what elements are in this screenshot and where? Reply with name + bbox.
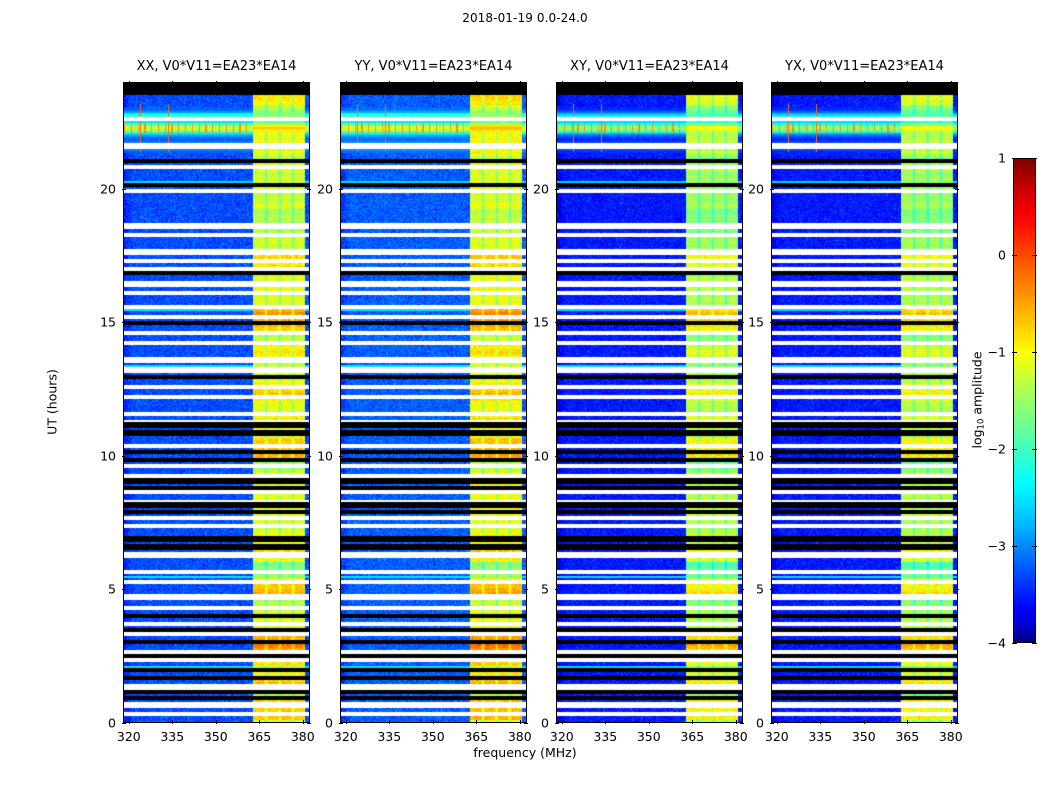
x-tick bbox=[172, 720, 173, 724]
x-tick bbox=[777, 720, 778, 724]
panel-xx: XX, V0*V11=EA23*EA1432033535036538005101… bbox=[123, 82, 310, 723]
y-tick-right bbox=[524, 189, 528, 190]
x-tick-top bbox=[259, 81, 260, 85]
y-tick-right bbox=[740, 322, 744, 323]
y-tick-right bbox=[307, 723, 311, 724]
y-tick-right bbox=[307, 589, 311, 590]
waterfall-image-xy bbox=[557, 83, 742, 722]
y-tick-label: 5 bbox=[325, 582, 333, 597]
colorbar-tick-inner bbox=[1032, 546, 1037, 547]
x-tick-label: 380 bbox=[939, 729, 963, 744]
y-tick-label: 5 bbox=[108, 582, 116, 597]
x-tick-top bbox=[820, 81, 821, 85]
y-tick bbox=[122, 322, 126, 323]
x-tick-label: 380 bbox=[508, 729, 532, 744]
y-tick-right bbox=[740, 589, 744, 590]
y-tick-label: 15 bbox=[317, 315, 333, 330]
x-tick bbox=[736, 720, 737, 724]
colorbar-tick bbox=[1012, 643, 1017, 644]
colorbar-tick bbox=[1012, 158, 1017, 159]
x-tick-label: 350 bbox=[421, 729, 445, 744]
x-tick bbox=[605, 720, 606, 724]
y-tick bbox=[122, 589, 126, 590]
y-tick-label: 20 bbox=[748, 181, 764, 196]
panel-title-yx: YX, V0*V11=EA23*EA14 bbox=[785, 59, 944, 74]
x-tick-top bbox=[346, 81, 347, 85]
y-tick-label: 5 bbox=[541, 582, 549, 597]
x-tick-label: 335 bbox=[808, 729, 832, 744]
colorbar-tick-label: 1 bbox=[998, 151, 1006, 166]
x-tick bbox=[562, 720, 563, 724]
figure-suptitle: 2018-01-19 0.0-24.0 bbox=[0, 11, 1050, 25]
y-tick bbox=[339, 322, 343, 323]
y-tick bbox=[770, 589, 774, 590]
y-tick-label: 0 bbox=[108, 716, 116, 731]
colorbar-tick bbox=[1012, 546, 1017, 547]
x-tick bbox=[216, 720, 217, 724]
x-tick-top bbox=[605, 81, 606, 85]
colorbar-tick-label: −2 bbox=[988, 442, 1006, 457]
y-tick-right bbox=[955, 189, 959, 190]
panel-title-xy: XY, V0*V11=EA23*EA14 bbox=[570, 59, 729, 74]
y-tick bbox=[555, 589, 559, 590]
figure-canvas: 2018-01-19 0.0-24.0 UT (hours) frequency… bbox=[0, 0, 1050, 800]
colorbar-tick-inner bbox=[1032, 449, 1037, 450]
y-tick-label: 20 bbox=[533, 181, 549, 196]
y-tick bbox=[555, 189, 559, 190]
colorbar-title-main: log bbox=[970, 429, 985, 448]
y-tick-right bbox=[955, 723, 959, 724]
y-tick-right bbox=[740, 456, 744, 457]
x-tick bbox=[259, 720, 260, 724]
y-tick bbox=[339, 456, 343, 457]
y-tick-right bbox=[307, 189, 311, 190]
x-tick-top bbox=[520, 81, 521, 85]
x-tick-label: 350 bbox=[637, 729, 661, 744]
x-tick-top bbox=[172, 81, 173, 85]
y-tick-label: 10 bbox=[533, 448, 549, 463]
y-tick bbox=[339, 723, 343, 724]
x-tick-top bbox=[864, 81, 865, 85]
y-tick-right bbox=[524, 723, 528, 724]
x-tick-label: 335 bbox=[593, 729, 617, 744]
y-tick-label: 10 bbox=[317, 448, 333, 463]
y-tick-right bbox=[955, 322, 959, 323]
x-tick-label: 350 bbox=[204, 729, 228, 744]
x-axis-label: frequency (MHz) bbox=[0, 745, 1050, 760]
waterfall-axes-xy[interactable] bbox=[556, 82, 743, 723]
x-tick bbox=[129, 720, 130, 724]
x-tick-label: 335 bbox=[377, 729, 401, 744]
x-tick-label: 365 bbox=[464, 729, 488, 744]
y-tick-label: 0 bbox=[756, 716, 764, 731]
panel-yx: YX, V0*V11=EA23*EA1432033535036538005101… bbox=[771, 82, 958, 723]
y-tick bbox=[555, 723, 559, 724]
colorbar: −4−3−2−101 bbox=[1013, 158, 1036, 643]
x-tick-label: 365 bbox=[895, 729, 919, 744]
y-tick-right bbox=[955, 589, 959, 590]
colorbar-title-subscript: 10 bbox=[977, 419, 987, 430]
colorbar-tick-inner bbox=[1032, 643, 1037, 644]
y-tick-right bbox=[524, 456, 528, 457]
x-tick-top bbox=[736, 81, 737, 85]
x-tick-label: 320 bbox=[334, 729, 358, 744]
y-tick-label: 0 bbox=[325, 716, 333, 731]
waterfall-image-yy bbox=[341, 83, 526, 722]
y-tick-label: 20 bbox=[100, 181, 116, 196]
colorbar-tick-inner bbox=[1032, 352, 1037, 353]
x-tick-label: 320 bbox=[765, 729, 789, 744]
y-tick bbox=[122, 189, 126, 190]
x-tick-top bbox=[303, 81, 304, 85]
x-tick-top bbox=[692, 81, 693, 85]
panel-title-yy: YY, V0*V11=EA23*EA14 bbox=[355, 59, 513, 74]
x-tick bbox=[951, 720, 952, 724]
x-tick bbox=[389, 720, 390, 724]
x-tick-top bbox=[777, 81, 778, 85]
y-tick bbox=[770, 322, 774, 323]
panel-title-xx: XX, V0*V11=EA23*EA14 bbox=[137, 59, 297, 74]
colorbar-tick bbox=[1012, 449, 1017, 450]
colorbar-tick-label: 0 bbox=[998, 248, 1006, 263]
x-tick bbox=[303, 720, 304, 724]
x-tick-top bbox=[129, 81, 130, 85]
x-tick-label: 380 bbox=[724, 729, 748, 744]
y-tick bbox=[555, 322, 559, 323]
y-tick-right bbox=[307, 456, 311, 457]
colorbar-tick bbox=[1012, 352, 1017, 353]
waterfall-image-yx bbox=[772, 83, 957, 722]
y-tick-right bbox=[524, 322, 528, 323]
y-tick-right bbox=[740, 723, 744, 724]
waterfall-axes-yy[interactable] bbox=[340, 82, 527, 723]
x-tick bbox=[346, 720, 347, 724]
x-tick bbox=[476, 720, 477, 724]
y-tick-label: 10 bbox=[100, 448, 116, 463]
x-tick-top bbox=[562, 81, 563, 85]
x-tick-label: 335 bbox=[160, 729, 184, 744]
y-tick bbox=[770, 723, 774, 724]
y-tick-right bbox=[524, 589, 528, 590]
x-tick-top bbox=[907, 81, 908, 85]
colorbar-tick-label: −3 bbox=[988, 539, 1006, 554]
colorbar-tick bbox=[1012, 255, 1017, 256]
y-tick-label: 5 bbox=[756, 582, 764, 597]
x-tick-top bbox=[216, 81, 217, 85]
colorbar-tick-inner bbox=[1032, 158, 1037, 159]
x-tick bbox=[649, 720, 650, 724]
y-tick-label: 0 bbox=[541, 716, 549, 731]
x-tick-top bbox=[389, 81, 390, 85]
y-tick-label: 20 bbox=[317, 181, 333, 196]
x-tick-top bbox=[649, 81, 650, 85]
x-tick-label: 365 bbox=[247, 729, 271, 744]
y-tick bbox=[770, 189, 774, 190]
y-tick bbox=[122, 723, 126, 724]
colorbar-title-tail: amplitude bbox=[970, 351, 985, 418]
x-tick bbox=[907, 720, 908, 724]
y-tick-right bbox=[307, 322, 311, 323]
x-tick bbox=[820, 720, 821, 724]
y-tick bbox=[122, 456, 126, 457]
x-tick-top bbox=[476, 81, 477, 85]
y-tick-right bbox=[740, 189, 744, 190]
y-tick-label: 15 bbox=[748, 315, 764, 330]
x-tick bbox=[692, 720, 693, 724]
y-tick-label: 15 bbox=[100, 315, 116, 330]
waterfall-image-xx bbox=[124, 83, 309, 722]
panel-yy: YY, V0*V11=EA23*EA1432033535036538005101… bbox=[340, 82, 527, 723]
colorbar-tick-label: −4 bbox=[988, 636, 1006, 651]
colorbar-title: log10 amplitude bbox=[970, 351, 985, 448]
y-tick-label: 15 bbox=[533, 315, 549, 330]
y-tick-right bbox=[955, 456, 959, 457]
panel-xy: XY, V0*V11=EA23*EA1432033535036538005101… bbox=[556, 82, 743, 723]
waterfall-axes-xx[interactable] bbox=[123, 82, 310, 723]
colorbar-gradient bbox=[1013, 158, 1036, 643]
y-tick bbox=[770, 456, 774, 457]
x-tick-label: 320 bbox=[550, 729, 574, 744]
x-tick bbox=[433, 720, 434, 724]
colorbar-tick-inner bbox=[1032, 255, 1037, 256]
waterfall-axes-yx[interactable] bbox=[771, 82, 958, 723]
x-tick-label: 365 bbox=[680, 729, 704, 744]
x-tick-top bbox=[433, 81, 434, 85]
colorbar-tick-label: −1 bbox=[988, 345, 1006, 360]
x-tick-label: 350 bbox=[852, 729, 876, 744]
x-tick-label: 320 bbox=[117, 729, 141, 744]
y-tick-label: 10 bbox=[748, 448, 764, 463]
x-tick bbox=[864, 720, 865, 724]
y-tick bbox=[339, 189, 343, 190]
x-tick-top bbox=[951, 81, 952, 85]
y-tick bbox=[339, 589, 343, 590]
y-axis-label: UT (hours) bbox=[45, 369, 60, 435]
x-tick bbox=[520, 720, 521, 724]
x-tick-label: 380 bbox=[291, 729, 315, 744]
y-tick bbox=[555, 456, 559, 457]
